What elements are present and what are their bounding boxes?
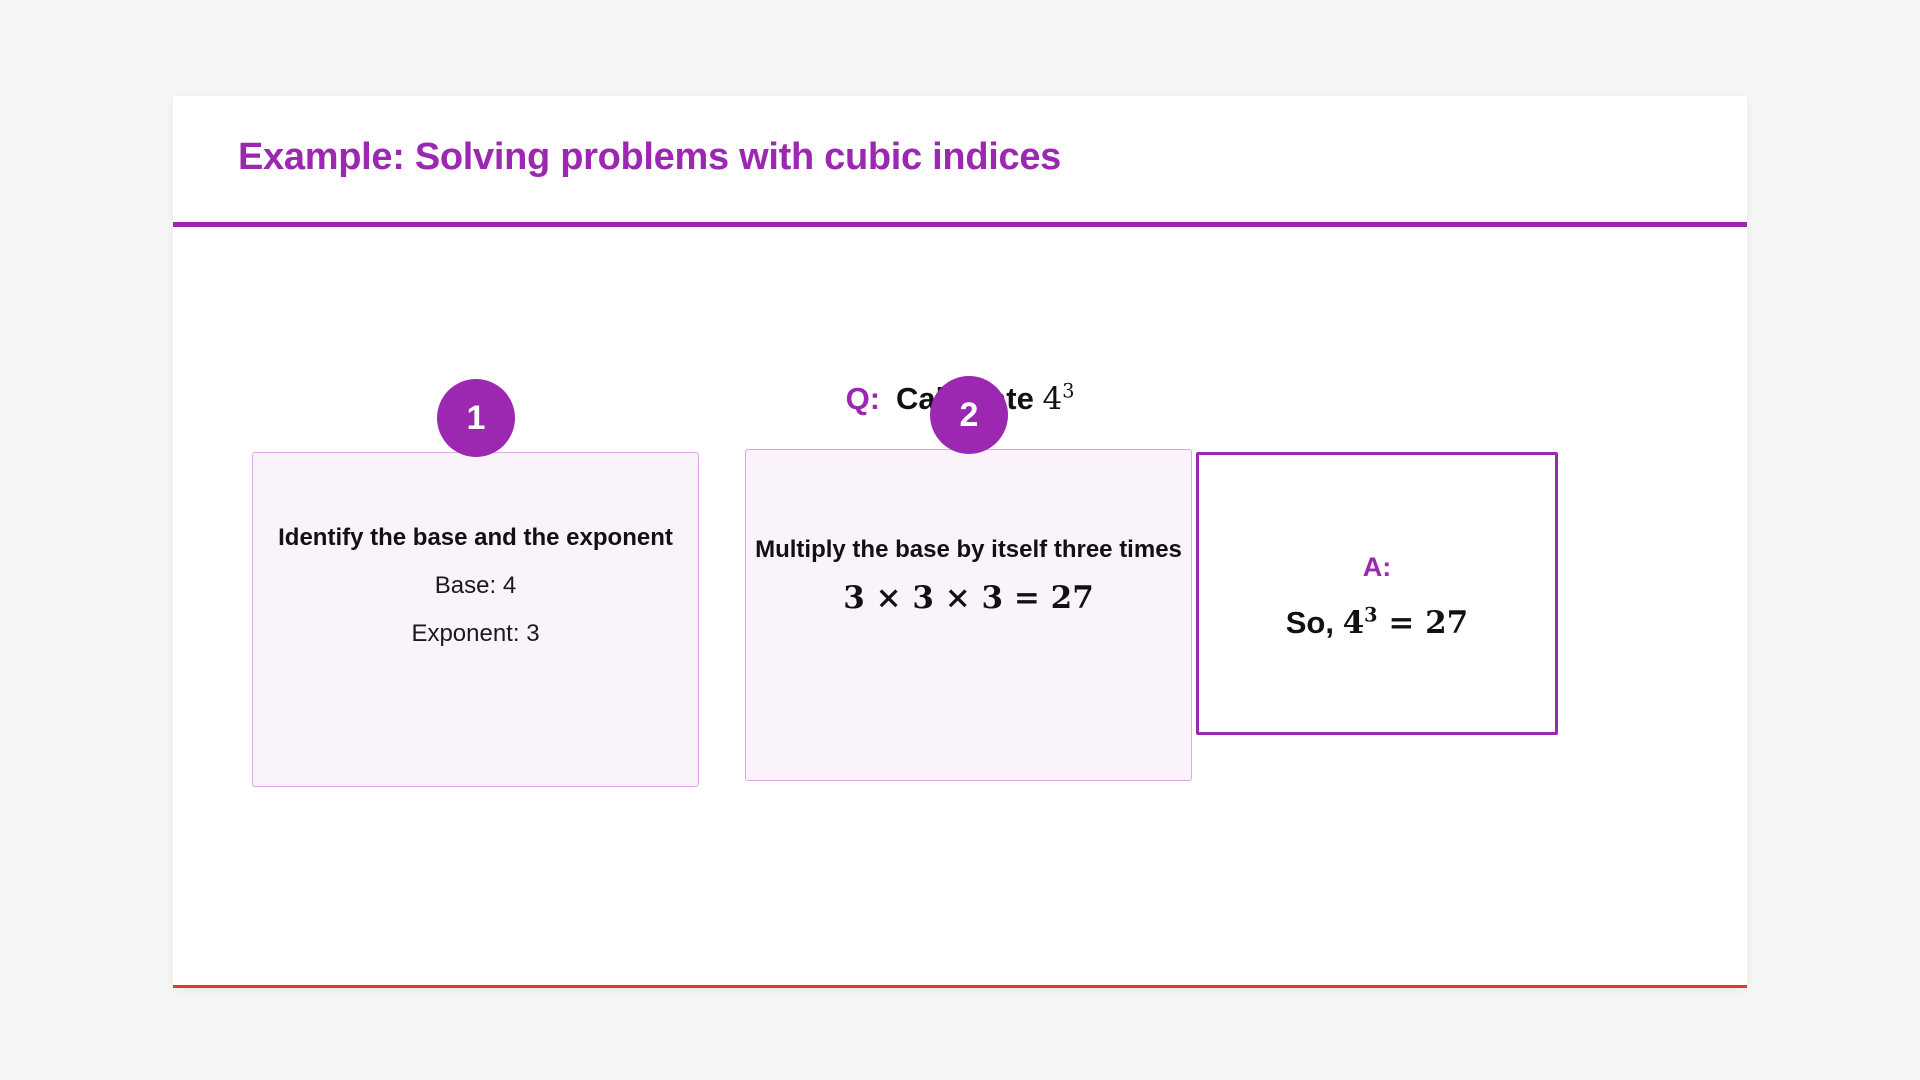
step-2-heading: Multiply the base by itself three times <box>746 527 1191 574</box>
answer-prefix: So, <box>1286 605 1343 640</box>
slide-card: Example: Solving problems with cubic ind… <box>173 96 1747 988</box>
step-badge-2: 2 <box>930 376 1008 454</box>
answer-expression-exponent: 3 <box>1364 604 1377 627</box>
steps-area: Identify the base and the exponent Base:… <box>173 96 1747 988</box>
answer-expression-result: = 27 <box>1378 605 1469 641</box>
step-1-line-1: Base: 4 <box>253 562 698 610</box>
step-2-formula: 3 × 3 × 3 = 27 <box>746 580 1191 616</box>
step-card-1: Identify the base and the exponent Base:… <box>252 452 699 787</box>
answer-expression-base: 4 <box>1343 605 1365 641</box>
answer-value: So, 43 = 27 <box>1199 605 1555 641</box>
answer-label: A: <box>1199 552 1555 583</box>
step-1-line-2: Exponent: 3 <box>253 610 698 658</box>
step-badge-1: 1 <box>437 379 515 457</box>
step-badge-2-number: 2 <box>960 398 979 432</box>
step-1-heading: Identify the base and the exponent <box>253 515 698 562</box>
answer-expression: 43 = 27 <box>1343 605 1469 641</box>
answer-box: A: So, 43 = 27 <box>1196 452 1558 735</box>
step-card-2: Multiply the base by itself three times … <box>745 449 1192 781</box>
bottom-accent-rule <box>173 985 1747 988</box>
step-badge-1-number: 1 <box>467 401 486 435</box>
